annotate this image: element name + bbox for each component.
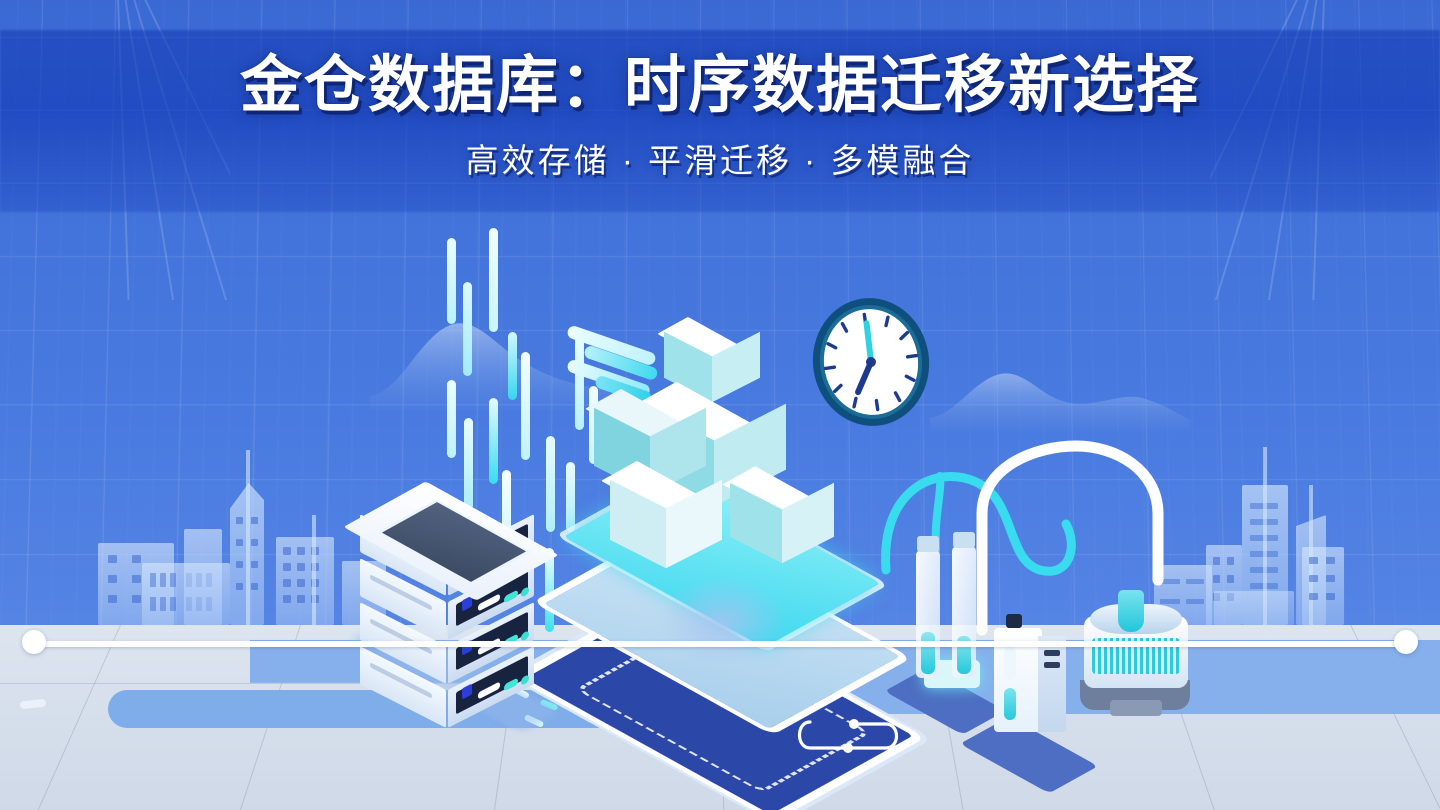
twin-tube-rack bbox=[904, 532, 1004, 712]
banner-canvas: 金仓数据库：时序数据迁移新选择 高效存储 · 平滑迁移 · 多模融合 bbox=[0, 0, 1440, 810]
ruler-knob-right[interactable] bbox=[1394, 630, 1418, 654]
timeline-ruler[interactable] bbox=[22, 639, 1418, 648]
lab-equipment-group bbox=[890, 400, 1180, 740]
ruler-knob-left[interactable] bbox=[22, 630, 46, 654]
page-title: 金仓数据库：时序数据迁移新选择 bbox=[0, 52, 1440, 120]
building bbox=[276, 537, 334, 625]
clock bbox=[806, 292, 936, 432]
cube-glow-halo bbox=[656, 576, 788, 668]
building bbox=[1302, 547, 1344, 625]
ruler-rod bbox=[40, 641, 1400, 647]
spire bbox=[312, 515, 316, 625]
headline-block: 金仓数据库：时序数据迁移新选择 高效存储 · 平滑迁移 · 多模融合 bbox=[0, 52, 1440, 182]
page-subtitle: 高效存储 · 平滑迁移 · 多模融合 bbox=[0, 134, 1440, 182]
building bbox=[1214, 591, 1294, 625]
spire bbox=[246, 450, 250, 625]
server-stack bbox=[352, 462, 548, 712]
building bbox=[184, 529, 222, 625]
data-pump-cylinder bbox=[1080, 590, 1200, 720]
